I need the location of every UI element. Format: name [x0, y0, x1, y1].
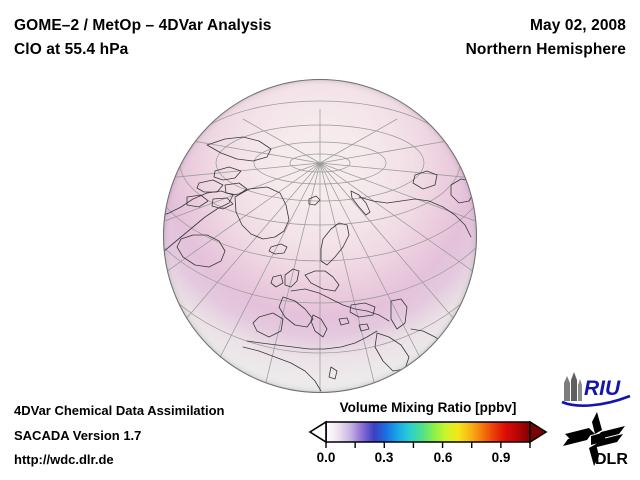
globe-map — [163, 79, 477, 393]
riu-logo: RIU — [558, 371, 632, 407]
colorbar: Volume Mixing Ratio [ppbv] 0.0 0.3 0.6 0… — [306, 400, 550, 472]
colorbar-tick-label: 0.6 — [434, 450, 453, 465]
globe-outline — [163, 79, 477, 393]
colorbar-title: Volume Mixing Ratio [ppbv] — [306, 400, 550, 415]
dlr-logo: DLR — [561, 410, 635, 470]
dlr-wordmark: DLR — [595, 451, 628, 468]
footer-line-2: SACADA Version 1.7 — [14, 428, 141, 443]
page-title: GOME–2 / MetOp – 4DVar Analysis — [14, 17, 272, 35]
page-subtitle: ClO at 55.4 hPa — [14, 41, 128, 59]
riu-wordmark: RIU — [584, 377, 621, 400]
footer-line-3[interactable]: http://wdc.dlr.de — [14, 452, 114, 467]
date-label: May 02, 2008 — [530, 17, 626, 35]
colorbar-tick-label: 0.0 — [317, 450, 336, 465]
colorbar-tick-label: 0.3 — [375, 450, 394, 465]
hemisphere-label: Northern Hemisphere — [466, 41, 626, 59]
colorbar-gradient — [306, 420, 550, 450]
riu-tower-icon — [564, 372, 582, 401]
footer-line-1: 4DVar Chemical Data Assimilation — [14, 403, 225, 418]
colorbar-tick-label: 0.9 — [492, 450, 511, 465]
